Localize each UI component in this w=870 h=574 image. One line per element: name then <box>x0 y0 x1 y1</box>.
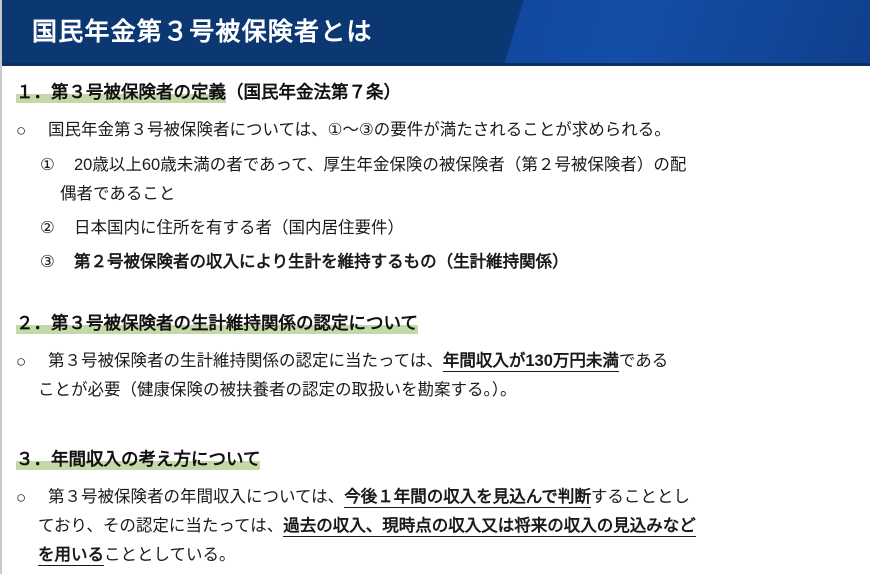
section-2-line-0-pre: 第３号被保険者の生計維持関係の認定に当たっては、 <box>48 352 443 370</box>
section-1: １．第３号被保険者の定義（国民年金法第７条） <box>2 80 870 104</box>
section-2: ２．第３号被保険者の生計維持関係の認定について <box>2 311 870 335</box>
section-3-line-1-pre: ており、その認定に当たっては、 <box>38 517 283 535</box>
section-2-line-0-emphasis: 年間収入が130万円未満 <box>443 352 619 372</box>
slide: 国民年金第３号被保険者とは １．第３号被保険者の定義（国民年金法第７条） ○ 国… <box>0 0 870 574</box>
section-1-item-1-text-line-1: 偶者であること <box>60 180 175 209</box>
section-3: ３．年間収入の考え方について <box>2 447 870 471</box>
slide-body: １．第３号被保険者の定義（国民年金法第７条） ○ 国民年金第３号被保険者について… <box>2 66 870 574</box>
section-2-line-0-post: である <box>619 352 668 370</box>
section-1-item-1-text-line-0: 20歳以上60歳未満の者であって、厚生年金保険の被保険者（第２号被保険者）の配 <box>74 151 686 180</box>
enumeration-marker-2-icon: ② <box>40 214 55 243</box>
section-2-heading: ２．第３号被保険者の生計維持関係の認定について <box>16 311 418 335</box>
section-3-line-0-post: することとし <box>591 488 690 506</box>
section-3-item-0-text-line-1: ており、その認定に当たっては、過去の収入、現時点の収入又は将来の収入の見込みなど <box>38 512 696 541</box>
section-1-item-0-line-0: 国民年金第３号被保険者については、①～③の要件が満たされることが求められる。 <box>48 116 671 145</box>
section-3-line-0-emphasis: 今後１年間の収入を見込んで判断 <box>344 488 591 508</box>
section-3-line-0-pre: 第３号被保険者の年間収入については、 <box>48 488 344 506</box>
page-title: 国民年金第３号被保険者とは <box>32 14 373 50</box>
enumeration-marker-1-icon: ① <box>40 151 55 180</box>
section-3-heading-highlighted: ３．年間収入の考え方について <box>16 449 260 470</box>
bullet-circle-icon: ○ <box>16 116 26 145</box>
section-3-line-2-emphasis: を用いる <box>38 546 104 566</box>
bullet-circle-icon: ○ <box>16 483 26 512</box>
section-1-heading-plain: （国民年金法第７条） <box>226 82 401 102</box>
section-2-item-0-text-line-0: 第３号被保険者の生計維持関係の認定に当たっては、年間収入が130万円未満である <box>48 347 668 376</box>
section-3-heading: ３．年間収入の考え方について <box>16 447 260 471</box>
section-1-item-3-text: 第２号被保険者の収入により生計を維持するもの（生計維持関係） <box>74 248 569 277</box>
bullet-circle-icon: ○ <box>16 347 26 376</box>
section-3-line-2-post: こととしている。 <box>104 546 236 564</box>
section-1-item-2-text: 日本国内に住所を有する者（国内居住要件） <box>74 214 404 243</box>
section-2-item-0-text-line-1: ことが必要（健康保険の被扶養者の認定の取扱いを勘案する。）。 <box>38 376 517 405</box>
section-3-item-0-text-line-2: を用いることとしている。 <box>38 541 236 570</box>
enumeration-marker-3-icon: ③ <box>40 248 55 277</box>
section-3-line-1-emphasis: 過去の収入、現時点の収入又は将来の収入の見込みなど <box>283 517 696 537</box>
slide-header: 国民年金第３号被保険者とは <box>2 0 870 66</box>
section-3-item-0-text-line-0: 第３号被保険者の年間収入については、今後１年間の収入を見込んで判断することとし <box>48 483 690 512</box>
section-1-heading-highlighted: １．第３号被保険者の定義 <box>16 82 226 103</box>
section-1-heading: １．第３号被保険者の定義（国民年金法第７条） <box>16 80 401 104</box>
section-2-heading-highlighted: ２．第３号被保険者の生計維持関係の認定について <box>16 313 418 334</box>
